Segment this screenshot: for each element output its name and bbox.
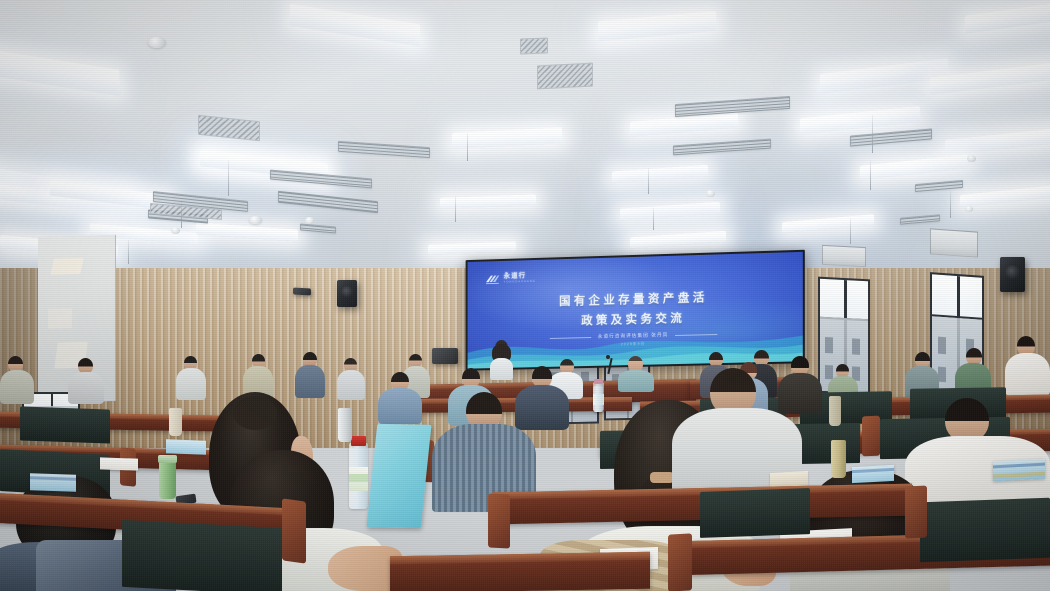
bench-armrest — [905, 485, 927, 538]
person-torso — [68, 372, 104, 404]
screen-logo: 永道行 YONGDAOHANG — [485, 273, 536, 285]
tumbler-cup — [159, 461, 176, 499]
smoke-detector-icon — [967, 155, 976, 162]
tumbler-lid — [158, 455, 177, 463]
tumbler-cup — [829, 396, 841, 426]
blue-booklet[interactable] — [166, 439, 206, 454]
booklet-band — [30, 476, 76, 481]
water-bottle — [349, 443, 368, 509]
booklet-band — [852, 468, 894, 473]
light-suspension-rod — [228, 160, 229, 196]
ceiling-projector — [432, 348, 458, 364]
light-suspension-rod — [467, 133, 468, 161]
light-suspension-rod — [455, 196, 456, 222]
presenter-torso — [618, 370, 654, 392]
smoke-detector-icon — [305, 217, 314, 224]
bench-armrest — [488, 493, 510, 548]
presenter-microphone-head — [606, 355, 610, 359]
audience-member — [0, 356, 34, 404]
window-blind — [930, 228, 978, 257]
person-torso — [1005, 353, 1050, 396]
seat-back — [920, 498, 1050, 563]
bottle-cap — [594, 379, 603, 384]
water-bottle — [593, 386, 603, 412]
wall-mounted-speaker — [337, 280, 357, 307]
person-torso — [378, 388, 422, 424]
hair-bun — [233, 396, 277, 430]
light-suspension-rod — [653, 208, 654, 230]
tumbler-cup — [831, 440, 846, 478]
air-conditioning-vent — [520, 38, 548, 55]
blue-booklet[interactable] — [993, 459, 1045, 482]
bench-armrest — [282, 498, 306, 563]
audience-member — [337, 358, 365, 400]
white-paper — [100, 457, 138, 470]
window-blind — [822, 245, 866, 267]
air-conditioning-vent — [537, 63, 593, 90]
bench-armrest — [668, 533, 692, 591]
light-suspension-rod — [872, 115, 873, 153]
light-suspension-rod — [870, 160, 871, 190]
presenter-at-podium — [616, 356, 656, 390]
light-suspension-rod — [648, 168, 649, 194]
smoke-detector-icon — [148, 37, 166, 48]
audience-member — [1005, 336, 1050, 396]
tumbler-cup — [338, 408, 352, 442]
bottle-cap — [351, 436, 366, 446]
smoke-detector-icon — [171, 227, 180, 234]
bench-armrest — [862, 416, 880, 457]
booklet-band — [993, 463, 1045, 469]
audience-member — [378, 372, 422, 424]
light-suspension-rod — [950, 190, 951, 218]
light-suspension-rod — [850, 218, 851, 244]
seat-back — [122, 520, 282, 591]
seat-back — [20, 406, 110, 443]
conference-room-photo: 永道行 YONGDAOHANG 国有企业存量资产盘活 政策及实务交流 永道行咨询… — [0, 0, 1050, 591]
smoke-detector-icon — [965, 206, 973, 212]
wall-mounted-speaker — [1000, 257, 1025, 292]
bottle-label-accent — [349, 474, 368, 482]
person-torso — [337, 370, 365, 400]
hair-tie — [650, 472, 674, 483]
light-suspension-rod — [181, 198, 182, 228]
tumbler-cup — [169, 408, 182, 436]
person-torso — [0, 370, 34, 404]
smoke-detector-icon — [706, 190, 715, 197]
seat-back — [700, 488, 810, 538]
ceiling-projector — [293, 288, 311, 296]
light-suspension-rod — [128, 240, 129, 264]
subtitle-rule-right — [675, 333, 717, 335]
cyan-folder[interactable] — [366, 424, 431, 528]
booklet-band — [993, 472, 1045, 479]
bench-desk-row-1 — [390, 552, 650, 591]
smoke-detector-icon — [249, 216, 262, 224]
blue-booklet[interactable] — [30, 473, 76, 492]
blue-booklet[interactable] — [852, 465, 894, 483]
blue-swoosh-logo-icon — [485, 274, 500, 285]
subtitle-rule-left — [549, 337, 590, 339]
audience-member — [68, 358, 104, 404]
